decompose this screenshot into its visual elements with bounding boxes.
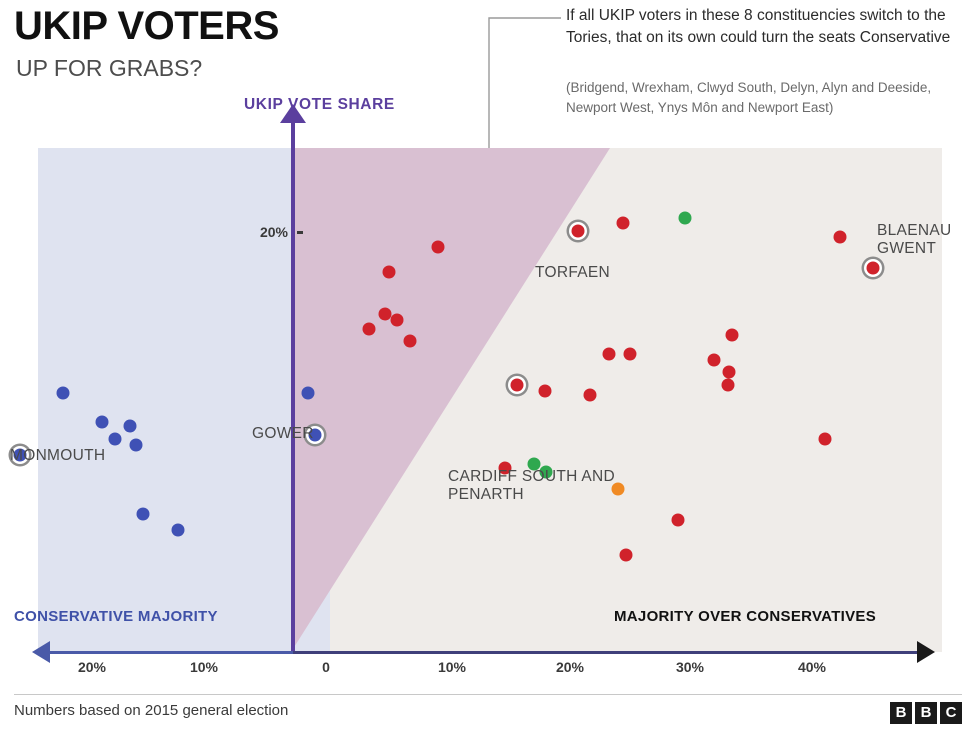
scatter-point [623, 347, 636, 360]
x-axis-left-segment [50, 651, 293, 654]
scatter-point [57, 387, 70, 400]
scatter-point [866, 262, 879, 275]
scatter-point [403, 335, 416, 348]
y-tick-label-20: 20% [260, 224, 288, 240]
scatter-point [390, 314, 403, 327]
scatter-point [383, 266, 396, 279]
scatter-point [129, 439, 142, 452]
scatter-point [431, 241, 444, 254]
zone-label-conservative-majority: CONSERVATIVE MAJORITY [14, 608, 218, 625]
scatter-point [721, 378, 734, 391]
scatter-point [378, 308, 391, 321]
scatter-point [511, 378, 524, 391]
annotation-sub-text: (Bridgend, Wrexham, Clwyd South, Delyn, … [566, 78, 956, 118]
scatter-point [708, 353, 721, 366]
scatter-point [722, 366, 735, 379]
x-tick-label--10: 10% [190, 659, 218, 675]
scatter-point [172, 524, 185, 537]
scatter-point [726, 328, 739, 341]
point-label-torfaen: TORFAEN [535, 264, 610, 282]
point-label-cardiff-south-and-penarth: CARDIFF SOUTH AND PENARTH [448, 468, 648, 504]
bbc-logo-c: C [940, 702, 962, 724]
scatter-point [539, 385, 552, 398]
y-axis-label: UKIP VOTE SHARE [244, 96, 395, 114]
scatter-point [302, 387, 315, 400]
page-subtitle: UP FOR GRABS? [16, 55, 202, 82]
scatter-point [571, 224, 584, 237]
scatter-point [679, 212, 692, 225]
page-title: UKIP VOTERS [14, 6, 279, 46]
scatter-point [123, 420, 136, 433]
scatter-point [583, 389, 596, 402]
scatter-point [672, 513, 685, 526]
x-tick-label-30: 30% [676, 659, 704, 675]
scatter-point [362, 322, 375, 335]
y-tick-mark-20 [297, 231, 303, 234]
scatter-point [109, 432, 122, 445]
ukip-swing-triangle [38, 148, 942, 652]
x-tick-label-20: 20% [556, 659, 584, 675]
x-tick-label--20: 20% [78, 659, 106, 675]
x-axis-arrow-left [32, 641, 50, 663]
point-label-monmouth: MONMOUTH [10, 447, 105, 465]
annotation-main-text: If all UKIP voters in these 8 constituen… [566, 5, 962, 49]
scatter-point [833, 231, 846, 244]
infographic-root: UKIP VOTERS UP FOR GRABS? If all UKIP vo… [0, 0, 976, 732]
x-tick-label-0: 0 [322, 659, 330, 675]
scatter-point [620, 549, 633, 562]
bbc-logo: B B C [890, 702, 962, 724]
x-tick-label-40: 40% [798, 659, 826, 675]
scatter-point [136, 507, 149, 520]
bbc-logo-b1: B [890, 702, 912, 724]
scatter-point [603, 347, 616, 360]
scatter-point [95, 416, 108, 429]
point-label-blaenau-gwent: BLAENAU GWENT [877, 222, 967, 258]
x-axis-arrow-right [917, 641, 935, 663]
chart-plot-area [38, 148, 942, 652]
scatter-point [819, 432, 832, 445]
point-label-gower: GOWER [252, 425, 314, 443]
footer-source-text: Numbers based on 2015 general election [14, 702, 288, 719]
zone-label-majority-over-conservatives: MAJORITY OVER CONSERVATIVES [614, 608, 876, 625]
y-axis-line [291, 115, 295, 653]
scatter-point [616, 216, 629, 229]
x-tick-label-10: 10% [438, 659, 466, 675]
bbc-logo-b2: B [915, 702, 937, 724]
footer-divider [14, 694, 962, 695]
